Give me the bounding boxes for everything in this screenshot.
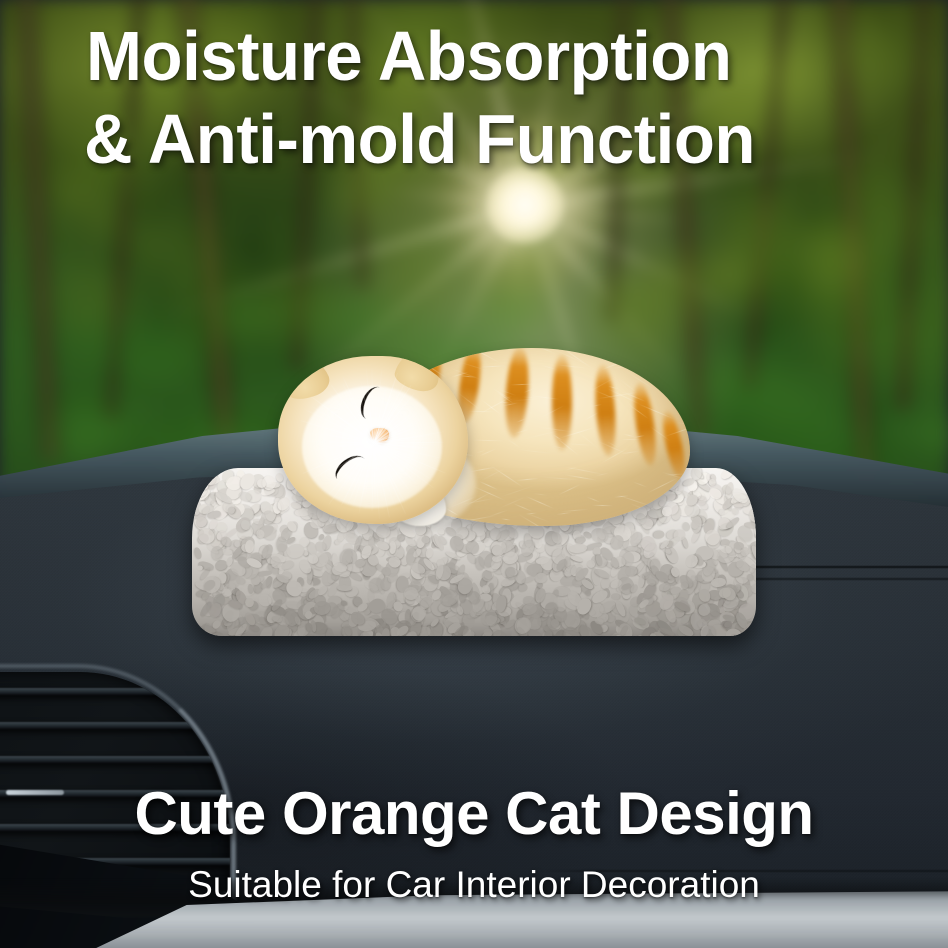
- fur-streak: [516, 478, 538, 481]
- footer-subtagline: Suitable for Car Interior Decoration: [0, 866, 948, 903]
- cat-figurine-on-mat: [186, 338, 762, 654]
- cat-figurine: [264, 338, 694, 538]
- fur-streak: [510, 383, 534, 385]
- fur-streak: [662, 386, 685, 404]
- mat-fiber: [593, 634, 609, 636]
- fur-streak: [525, 495, 555, 509]
- air-vent-louvre[interactable]: [0, 722, 230, 729]
- fur-streak: [507, 439, 521, 449]
- fur-streak: [609, 515, 630, 526]
- fur-streak: [565, 443, 595, 446]
- air-vent-louvre[interactable]: [0, 688, 230, 695]
- fur-streak: [513, 502, 533, 511]
- fur-streak: [668, 508, 685, 520]
- fur-streak: [629, 503, 656, 515]
- mat-fiber: [381, 628, 390, 636]
- cat-stripe: [630, 381, 660, 467]
- fur-streak: [621, 439, 640, 440]
- headline-line-1: Moisture Absorption: [86, 21, 731, 91]
- mat-fiber: [518, 583, 528, 592]
- fur-streak: [556, 511, 571, 514]
- fur-streak: [480, 468, 505, 482]
- product-image-canvas: Moisture Absorption & Anti-mold Function…: [0, 0, 948, 948]
- fur-streak: [488, 348, 510, 353]
- fur-streak: [490, 465, 524, 488]
- mat-fiber: [244, 540, 255, 554]
- footer-tagline: Cute Orange Cat Design: [0, 784, 948, 844]
- cat-head: [278, 356, 468, 524]
- mat-fiber: [240, 519, 249, 529]
- cat-stripe: [503, 348, 531, 439]
- mat-fiber: [469, 609, 475, 618]
- fur-streak: [478, 448, 496, 456]
- fur-streak: [472, 439, 504, 441]
- mat-fiber: [611, 593, 620, 600]
- cat-stripe: [659, 409, 689, 481]
- headline-line-2: & Anti-mold Function: [84, 104, 755, 174]
- mat-fiber: [456, 606, 464, 616]
- fur-streak: [655, 352, 675, 367]
- mat-fiber: [334, 539, 342, 546]
- fur-streak: [517, 449, 553, 454]
- cat-ear-left: [278, 356, 333, 405]
- fur-streak: [612, 364, 641, 369]
- fur-streak: [686, 467, 690, 493]
- fur-streak: [677, 422, 690, 424]
- fur-streak: [534, 493, 548, 496]
- fur-streak: [479, 366, 506, 368]
- mat-fiber: [492, 630, 507, 636]
- air-vent-louvre[interactable]: [0, 756, 230, 763]
- mat-fiber: [748, 508, 756, 522]
- mat-fiber: [585, 590, 592, 596]
- fur-streak: [632, 482, 647, 489]
- mat-fiber: [193, 547, 203, 561]
- fur-streak: [665, 507, 690, 526]
- mat-fiber: [719, 468, 735, 482]
- fur-streak: [592, 505, 613, 506]
- fur-streak: [501, 518, 511, 520]
- fur-streak: [686, 486, 690, 505]
- fur-streak: [687, 451, 690, 455]
- fur-streak: [563, 466, 603, 475]
- fur-streak: [587, 496, 601, 502]
- mat-fiber: [325, 628, 334, 636]
- mat-fiber: [284, 611, 298, 626]
- fur-streak: [647, 478, 679, 494]
- fur-streak: [558, 484, 581, 496]
- fur-streak: [468, 410, 495, 411]
- mat-fiber: [197, 564, 203, 570]
